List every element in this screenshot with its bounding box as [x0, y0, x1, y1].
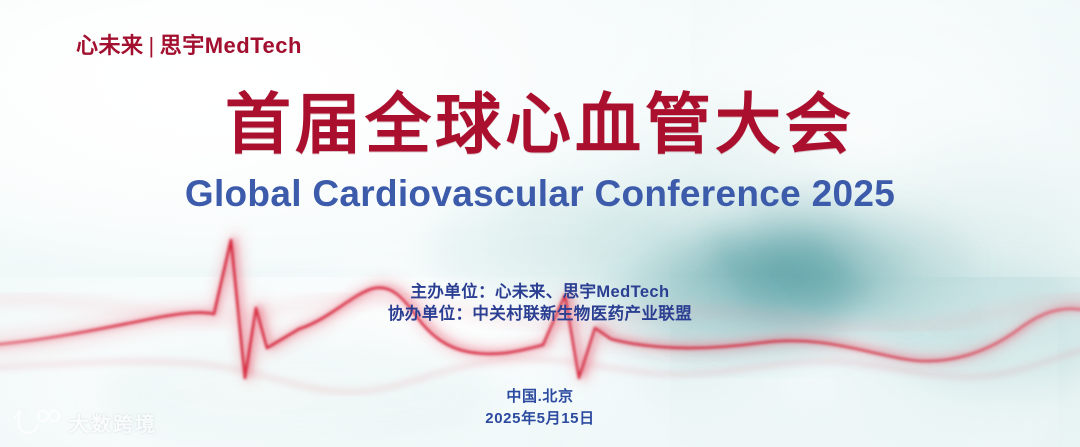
- ecg-waveform: [0, 0, 1080, 447]
- organizer-block: 主办单位：心未来、思宇MedTech 协办单位：中关村联新生物医药产业联盟: [0, 281, 1080, 325]
- cohost-organizer-line: 协办单位：中关村联新生物医药产业联盟: [0, 303, 1080, 325]
- page-title-cn: 首届全球心血管大会: [0, 92, 1080, 158]
- venue-location: 中国.北京: [0, 386, 1080, 408]
- venue-block: 中国.北京 2025年5月15日: [0, 386, 1080, 430]
- dashu-kuajing-logo-icon: [12, 407, 60, 437]
- venue-date: 2025年5月15日: [0, 408, 1080, 430]
- host-organizer-line: 主办单位：心未来、思宇MedTech: [0, 281, 1080, 303]
- teal-polygon-texture: [0, 0, 1080, 447]
- brand-separator: |: [144, 33, 160, 58]
- conference-poster: 心未来|思宇MedTech 首届全球心血管大会 Global Cardiovas…: [0, 0, 1080, 447]
- brand-name-cn: 心未来: [76, 33, 144, 58]
- brand-lockup: 心未来|思宇MedTech: [76, 28, 302, 60]
- page-title-en: Global Cardiovascular Conference 2025: [0, 174, 1080, 215]
- watermark: 大数跨境: [12, 407, 157, 437]
- watermark-text: 大数跨境: [69, 408, 157, 437]
- brand-name-en: 思宇MedTech: [160, 33, 302, 58]
